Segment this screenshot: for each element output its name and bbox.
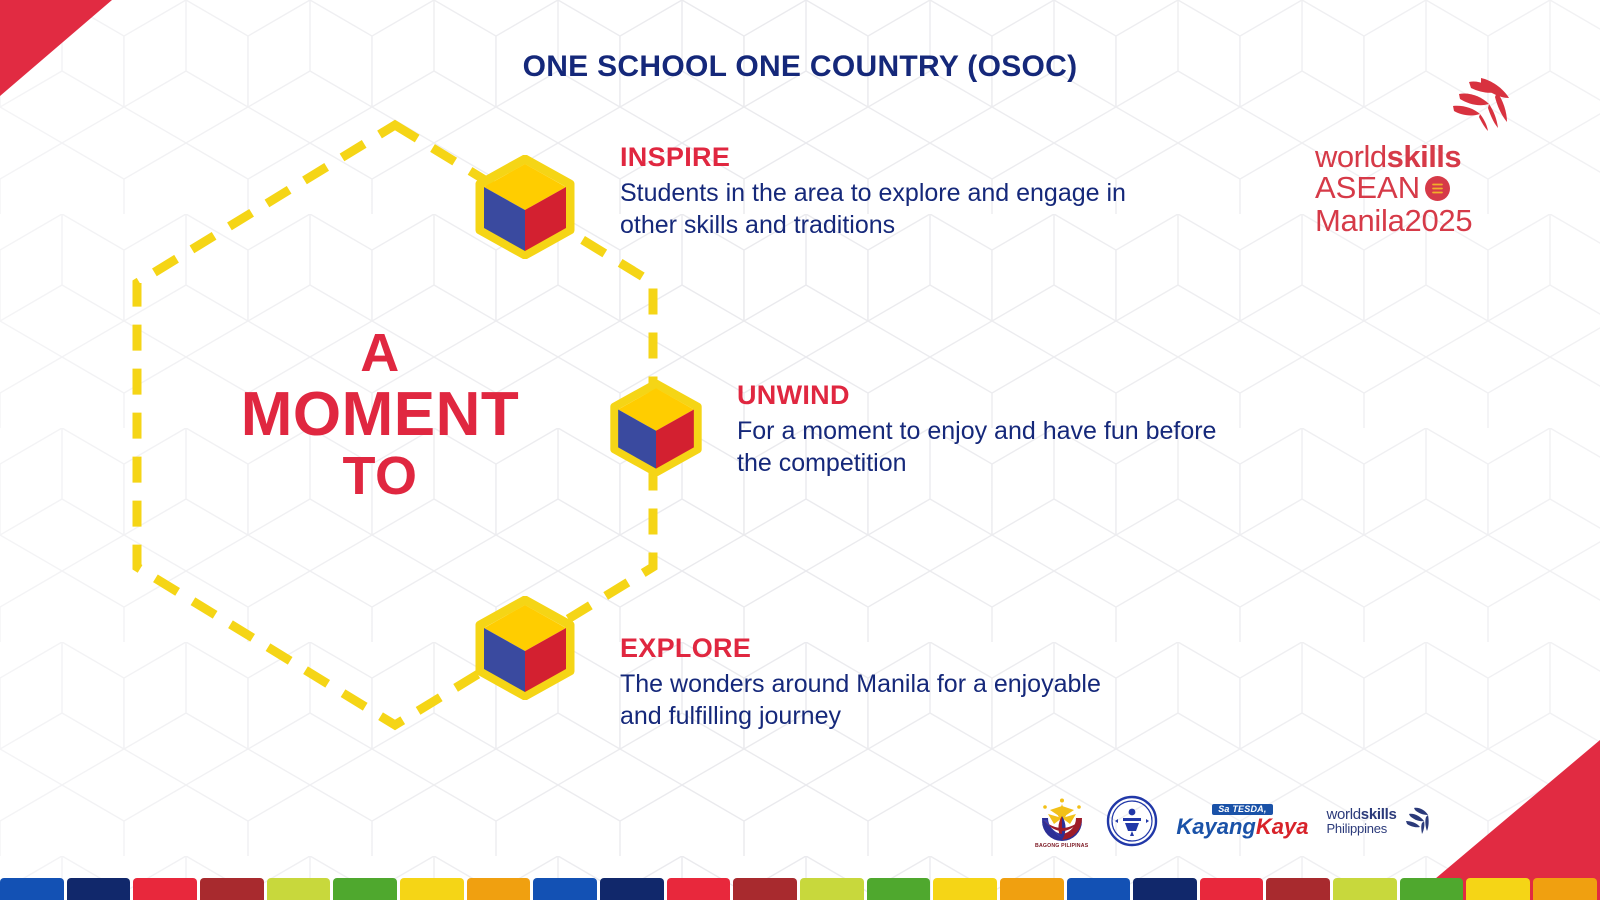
color-bar-segment	[467, 878, 531, 900]
info-block-explore: EXPLORE The wonders around Manila for a …	[620, 634, 1120, 732]
worldskills-philippines-flame-icon	[1400, 806, 1430, 836]
kayang-kaya-main-label: KayangKaya	[1176, 816, 1308, 838]
info-block-inspire-body: Students in the area to explore and enga…	[620, 177, 1140, 241]
headline-line-3: TO	[170, 448, 590, 505]
headline-line-1: A	[170, 325, 590, 382]
footer-partner-logos: BAGONG PILIPINAS	[1035, 786, 1430, 856]
info-block-inspire-heading: INSPIRE	[620, 143, 1140, 173]
headline-line-2: MOMENT	[170, 382, 590, 448]
logo-line-asean: ASEAN	[1315, 172, 1515, 205]
bagong-pilipinas-caption: BAGONG PILIPINAS	[1035, 843, 1088, 849]
info-block-explore-body: The wonders around Manila for a enjoyabl…	[620, 668, 1120, 732]
worldskills-flame-icon	[1419, 78, 1515, 136]
color-bar-segment	[1333, 878, 1397, 900]
cube-icon-inspire	[473, 155, 577, 259]
color-bar-segment	[1533, 878, 1597, 900]
color-bar-segment	[1400, 878, 1464, 900]
color-bar-segment	[1133, 878, 1197, 900]
wsp-text-world: world	[1326, 806, 1360, 823]
color-bar-segment	[1000, 878, 1064, 900]
logo-line-manila: Manila2025	[1315, 205, 1515, 238]
worldskills-philippines-text: worldskills Philippines	[1326, 807, 1396, 836]
kaya-word: Kaya	[1256, 814, 1309, 839]
logo-text-skills: skills	[1387, 139, 1462, 174]
bagong-pilipinas-sun-icon	[1036, 794, 1088, 842]
color-bar-segment	[67, 878, 131, 900]
logo-line-worldskills: worldskills	[1315, 141, 1515, 172]
color-bar-segment	[667, 878, 731, 900]
wsp-text-skills: skills	[1361, 806, 1397, 823]
color-bar-segment	[800, 878, 864, 900]
color-bar-segment	[200, 878, 264, 900]
worldskills-asean-manila-2025-logo: worldskills ASEAN Manila2025	[1315, 78, 1515, 237]
wsp-line-1: worldskills	[1326, 807, 1396, 823]
bagong-pilipinas-logo: BAGONG PILIPINAS	[1035, 794, 1088, 849]
logo-text-asean: ASEAN	[1315, 172, 1420, 205]
info-block-explore-heading: EXPLORE	[620, 634, 1120, 664]
corner-triangle-bottom-right	[1410, 740, 1600, 900]
cube-icon-explore	[473, 596, 577, 700]
color-bar-segment	[533, 878, 597, 900]
worldskills-philippines-logo: worldskills Philippines	[1326, 806, 1429, 836]
kayang-kaya-logo: Sa TESDA, KayangKaya	[1176, 804, 1308, 838]
info-block-unwind-heading: UNWIND	[737, 381, 1257, 411]
color-bar-segment	[267, 878, 331, 900]
color-bar-segment	[933, 878, 997, 900]
kayang-word: Kayang	[1176, 814, 1255, 839]
color-bar-segment	[333, 878, 397, 900]
logo-text-world: world	[1315, 139, 1387, 174]
color-bar-segment	[1466, 878, 1530, 900]
info-block-unwind-body: For a moment to enjoy and have fun befor…	[737, 415, 1257, 479]
tesda-seal-icon	[1106, 795, 1158, 847]
info-block-inspire: INSPIRE Students in the area to explore …	[620, 143, 1140, 241]
info-block-unwind: UNWIND For a moment to enjoy and have fu…	[737, 381, 1257, 479]
tesda-seal-logo	[1106, 795, 1158, 847]
color-bar-segment	[400, 878, 464, 900]
color-bar-segment	[600, 878, 664, 900]
color-bar-segment	[733, 878, 797, 900]
color-bar-segment	[1067, 878, 1131, 900]
asean-emblem-icon	[1425, 176, 1450, 201]
central-headline: A MOMENT TO	[170, 325, 590, 505]
wsp-line-2: Philippines	[1326, 822, 1396, 836]
color-bar-segment	[0, 878, 64, 900]
bottom-color-bar	[0, 878, 1600, 900]
color-bar-segment	[133, 878, 197, 900]
color-bar-segment	[1200, 878, 1264, 900]
cube-icon-unwind	[608, 380, 704, 476]
asean-rice-stalks-icon	[1429, 180, 1446, 197]
color-bar-segment	[867, 878, 931, 900]
slide-canvas: ONE SCHOOL ONE COUNTRY (OSOC) A MOMENT T…	[0, 0, 1600, 900]
color-bar-segment	[1266, 878, 1330, 900]
